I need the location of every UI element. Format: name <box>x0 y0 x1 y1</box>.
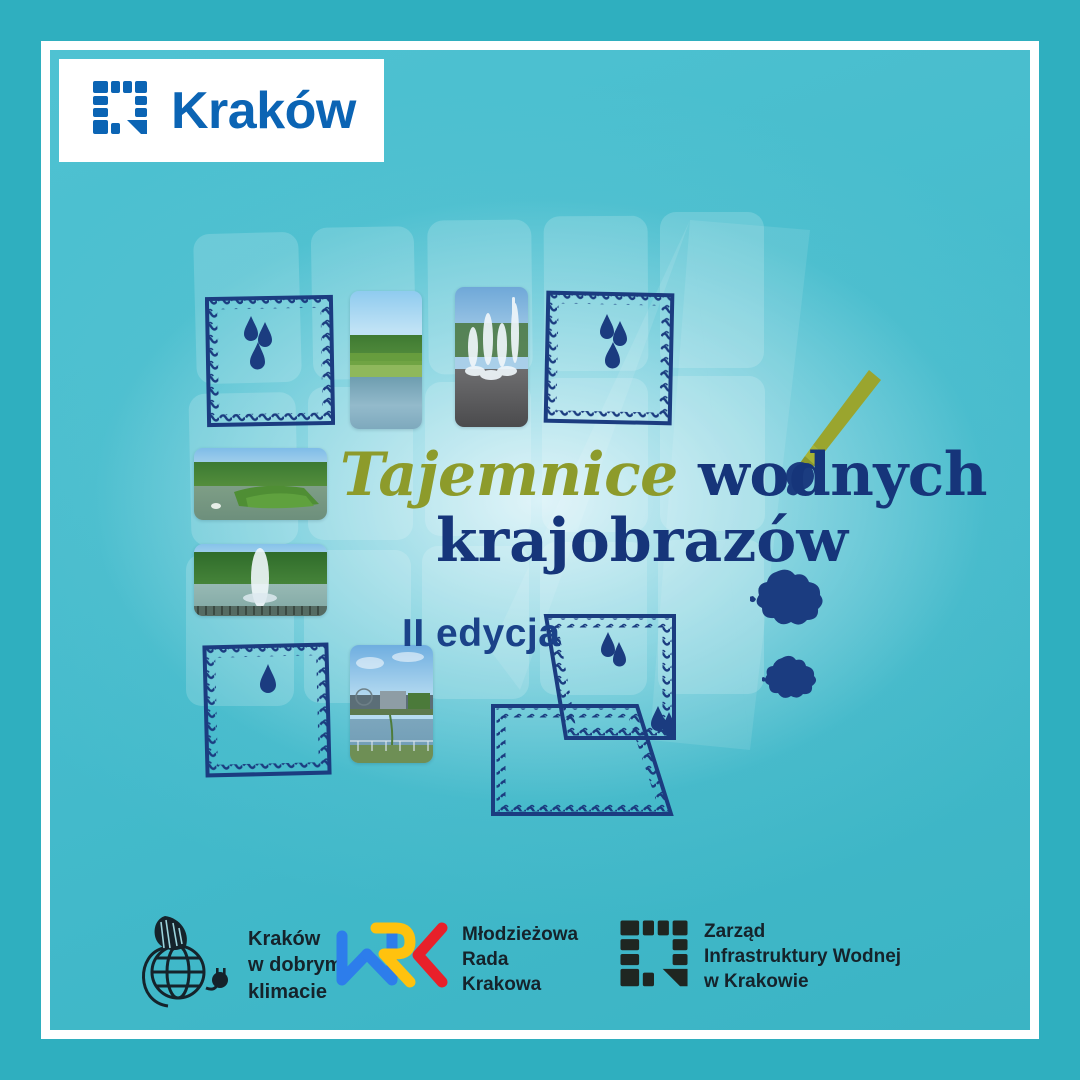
poster-root: Tajemnice wodnych krajobrazów II edycja <box>0 0 1080 1080</box>
ornate-frame-bottom-right <box>487 700 677 820</box>
paint-blob-icon <box>750 568 828 634</box>
partner-krakow-w-dobrym-klimacie: Kraków w dobrym klimacie <box>128 910 342 1021</box>
photo-pond-lilies <box>194 448 327 520</box>
ziw-blocks-icon <box>618 918 690 995</box>
mrk-logo-icon <box>336 918 448 1001</box>
poster-subtitle: II edycja <box>402 612 560 656</box>
ornate-frame-top-left <box>205 294 335 428</box>
globe-leaf-plug-icon <box>128 910 234 1021</box>
poster-title: Tajemnice wodnych krajobrazów <box>340 445 980 571</box>
photo-river-bank <box>350 291 422 429</box>
photo-fountain-jets <box>455 287 528 427</box>
title-word-tajemnice: Tajemnice <box>340 440 678 510</box>
partner-zarzad-infrastruktury-wodnej: Zarząd Infrastruktury Wodnej w Krakowie <box>618 918 901 995</box>
title-line-1: Tajemnice wodnych <box>340 445 980 505</box>
ornate-frame-bottom-left <box>202 642 332 778</box>
title-line-2: krajobrazów <box>436 511 980 571</box>
poster-stage: Tajemnice wodnych krajobrazów II edycja <box>50 50 1030 1030</box>
paint-blob-small-icon <box>762 655 820 705</box>
krakow-blocks-icon <box>91 79 149 142</box>
photo-waterfront-city <box>350 645 433 763</box>
krakow-wordmark: Kraków <box>171 85 356 137</box>
photo-park-fountain <box>194 544 327 616</box>
partner-mrk-label: Młodzieżowa Rada Krakowa <box>462 922 578 998</box>
partner-mlodziezowa-rada-krakowa: Młodzieżowa Rada Krakowa <box>336 918 578 1001</box>
footer-partners: Kraków w dobrym klimacie Młodzieżowa <box>0 896 1080 1036</box>
krakow-brand-badge: Kraków <box>59 59 384 162</box>
ornate-frame-top-right <box>543 290 675 426</box>
partner-krakow-klimacie-label: Kraków w dobrym klimacie <box>248 926 342 1005</box>
partner-ziw-label: Zarząd Infrastruktury Wodnej w Krakowie <box>704 919 901 995</box>
title-word-wodnych: wodnych <box>698 440 987 510</box>
